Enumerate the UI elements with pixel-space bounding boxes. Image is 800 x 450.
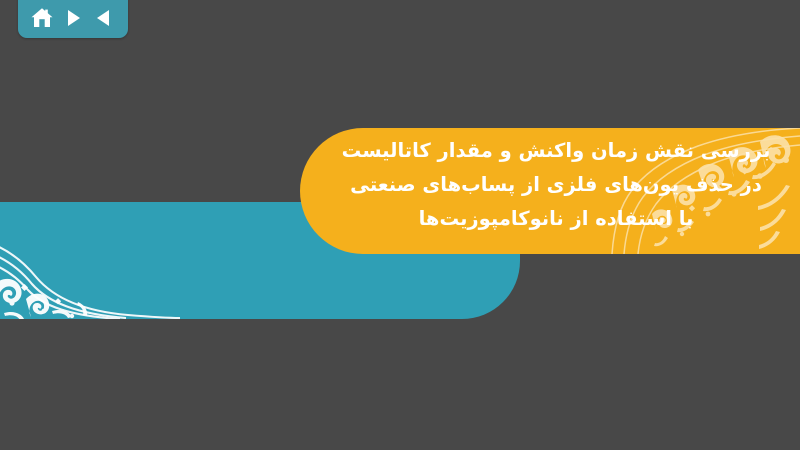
navigation-bar: [18, 0, 128, 38]
previous-slide-button[interactable]: [91, 5, 117, 31]
home-icon: [30, 6, 54, 30]
title-panel: بررسی نقش زمان واکنش و مقدار کاتالیست در…: [300, 128, 800, 254]
title-line-1: بررسی نقش زمان واکنش و مقدار کاتالیست: [334, 134, 778, 168]
title-line-2: در حذف یون‌های فلزی از پساب‌های صنعتی: [334, 168, 778, 202]
slide-title: بررسی نقش زمان واکنش و مقدار کاتالیست در…: [334, 134, 778, 236]
title-line-3: با استفاده از نانوکامپوزیت‌ها: [334, 202, 778, 236]
forward-arrow-icon: [62, 7, 84, 29]
next-slide-button[interactable]: [60, 5, 86, 31]
back-arrow-icon: [93, 7, 115, 29]
teal-arabesque-ornament: [0, 202, 180, 319]
home-button[interactable]: [29, 5, 55, 31]
slide-canvas: بررسی نقش زمان واکنش و مقدار کاتالیست در…: [0, 0, 800, 450]
